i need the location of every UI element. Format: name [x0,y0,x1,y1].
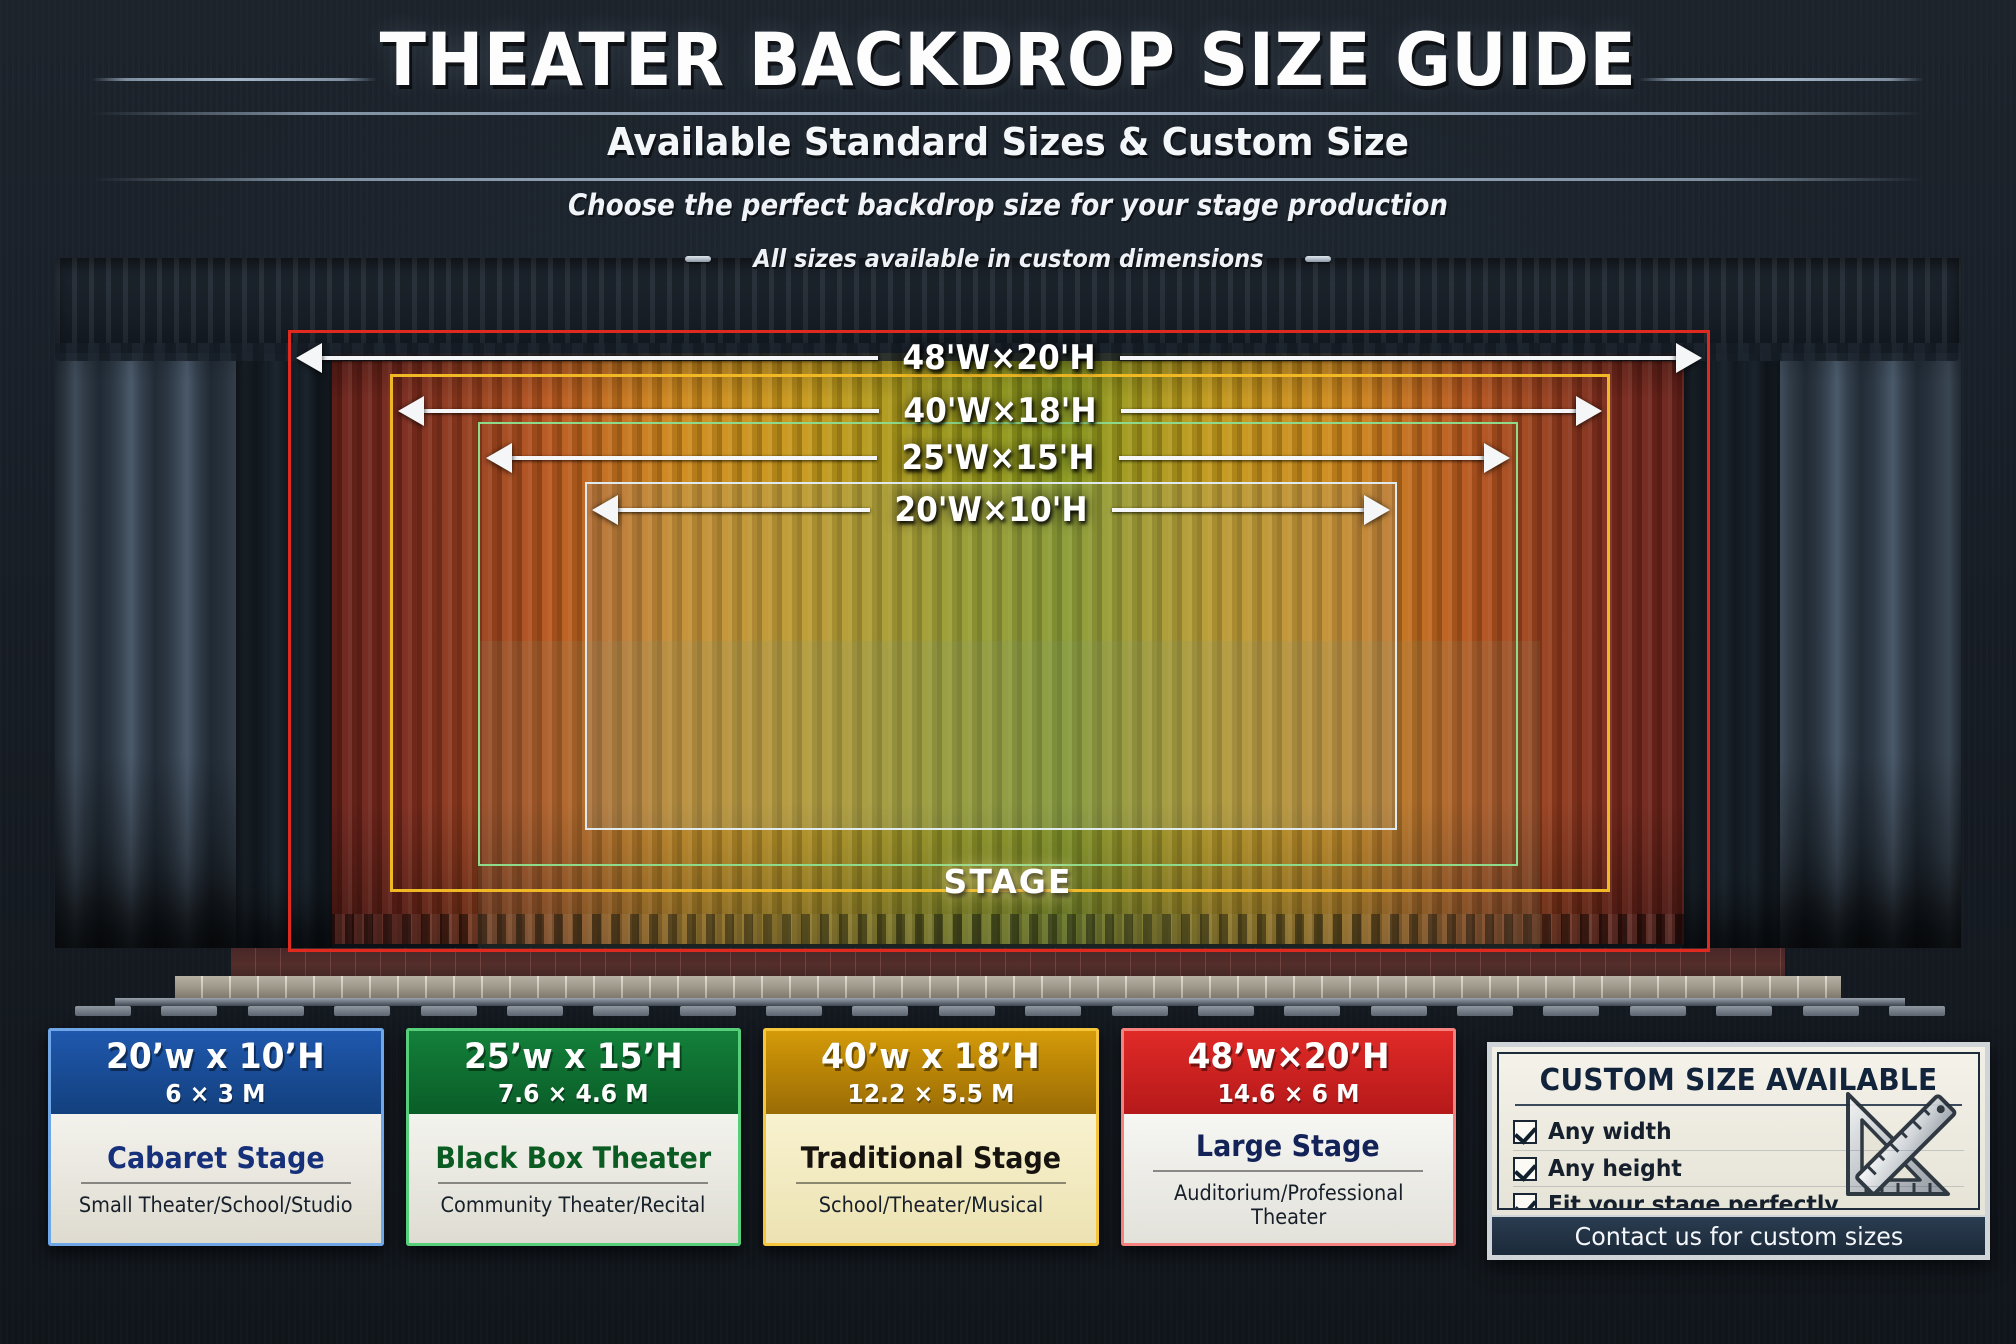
card-title: Black Box Theater [435,1141,711,1175]
custom-dimensions-note: All sizes available in custom dimensions [0,244,2016,273]
card-divider [438,1182,708,1184]
footlight-segment [1716,1006,1772,1016]
dimension-label: 25'W×15'H [887,438,1110,478]
dimension-label: 40'W×18'H [889,391,1112,431]
custom-feature-any-height[interactable]: Any height [1513,1150,1964,1186]
stage-floor-planks [231,948,1785,978]
size-card-traditional[interactable]: 40’w x 18’H 12.2 × 5.5 M Traditional Sta… [763,1028,1099,1246]
arrow-right-icon [1484,443,1510,473]
dimension-line [1112,508,1364,512]
card-size-imperial: 20’w x 10’H [106,1037,325,1077]
dash-left-icon [685,256,711,262]
card-divider [81,1182,351,1184]
card-size-imperial: 48’w×20’H [1187,1037,1389,1077]
arrow-right-icon [1576,396,1602,426]
dimension-row-20x10[interactable]: 20'W×10'H [592,488,1390,532]
poster-root: THEATER BACKDROP SIZE GUIDE Available St… [0,0,2016,1344]
card-description: Auditorium/Professional Theater [1144,1181,1432,1229]
footlight-segment [1457,1006,1513,1016]
size-card-large[interactable]: 48’w×20’H 14.6 × 6 M Large Stage Auditor… [1121,1028,1457,1246]
dash-right-icon [1305,256,1331,262]
header: THEATER BACKDROP SIZE GUIDE Available St… [0,0,2016,272]
dimension-line [512,456,877,460]
card-header: 25’w x 15’H 7.6 × 4.6 M [406,1028,742,1114]
custom-feature-label: Any height [1548,1156,1682,1182]
custom-panel-inner: CUSTOM SIZE AVAILABLE Any width Any heig… [1497,1052,1980,1210]
card-size-metric: 7.6 × 4.6 M [498,1079,649,1108]
header-rule-wide-top [92,112,1924,115]
checkbox-checked-icon[interactable] [1513,1193,1537,1211]
custom-panel-footer[interactable]: Contact us for custom sizes [1492,1215,1985,1255]
card-body: Large Stage Auditorium/Professional Thea… [1121,1114,1457,1246]
custom-size-panel[interactable]: CUSTOM SIZE AVAILABLE Any width Any heig… [1487,1042,1990,1260]
footlight-segment [1198,1006,1254,1016]
footlight-segment [1112,1006,1168,1016]
arrow-right-icon [1364,495,1390,525]
custom-feature-any-width[interactable]: Any width [1513,1114,1964,1150]
dimension-line [618,508,870,512]
size-card-row: 20’w x 10’H 6 × 3 M Cabaret Stage Small … [48,1028,1456,1246]
footlight-segment [248,1006,304,1016]
footlight-segment [593,1006,649,1016]
card-size-imperial: 40’w x 18’H [821,1037,1040,1077]
card-title: Traditional Stage [801,1141,1061,1175]
card-size-imperial: 25’w x 15’H [464,1037,683,1077]
card-size-metric: 12.2 × 5.5 M [847,1079,1014,1108]
arrow-right-icon [1676,343,1702,373]
dimension-row-25x15[interactable]: 25'W×15'H [486,436,1510,480]
footlight-segment [680,1006,736,1016]
footlight-segment [1803,1006,1859,1016]
card-description: Small Theater/School/Studio [79,1193,353,1217]
card-body: Cabaret Stage Small Theater/School/Studi… [48,1114,384,1246]
note-text: All sizes available in custom dimensions [753,244,1263,273]
size-card-cabaret[interactable]: 20’w x 10’H 6 × 3 M Cabaret Stage Small … [48,1028,384,1246]
arrow-left-icon [486,443,512,473]
footlight-segment [766,1006,822,1016]
footlight-segment [1025,1006,1081,1016]
footlight-segment [1543,1006,1599,1016]
footlight-segment [852,1006,908,1016]
custom-footer-label: Contact us for custom sizes [1574,1222,1903,1251]
card-size-metric: 14.6 × 6 M [1217,1079,1359,1108]
card-divider [796,1182,1066,1184]
page-title: THEATER BACKDROP SIZE GUIDE [71,18,1946,103]
page-subtitle: Available Standard Sizes & Custom Size [60,120,1955,164]
dimension-row-48x20[interactable]: 48'W×20'H [296,336,1702,380]
custom-feature-fit-stage[interactable]: Fit your stage perfectly [1513,1186,1964,1210]
dimension-line [1120,356,1676,360]
page-tagline: Choose the perfect backdrop size for you… [101,188,1915,222]
card-body: Black Box Theater Community Theater/Reci… [406,1114,742,1246]
arrow-left-icon [296,343,322,373]
footlight-segment [161,1006,217,1016]
stage-apron [175,976,1841,1000]
arrow-left-icon [592,495,618,525]
card-body: Traditional Stage School/Theater/Musical [763,1114,1099,1246]
dimension-label: 48'W×20'H [888,338,1111,378]
card-size-metric: 6 × 3 M [166,1079,266,1108]
card-description: Community Theater/Recital [441,1193,706,1217]
footlight-segment [1284,1006,1340,1016]
footlight-segment [334,1006,390,1016]
footlight-segment [1371,1006,1427,1016]
header-rule-wide-bottom [92,178,1924,181]
dimension-line [1119,456,1484,460]
footlight-segment [939,1006,995,1016]
dimension-row-40x18[interactable]: 40'W×18'H [398,389,1602,433]
card-description: School/Theater/Musical [818,1193,1043,1217]
side-curtain-right [1761,258,1961,948]
dimension-line [1121,409,1576,413]
card-title: Cabaret Stage [107,1141,324,1175]
custom-feature-label: Fit your stage perfectly [1548,1192,1839,1211]
dimension-line [322,356,878,360]
footlight-segment [75,1006,131,1016]
card-title: Large Stage [1196,1129,1380,1163]
card-header: 20’w x 10’H 6 × 3 M [48,1028,384,1114]
footlight-segment [1889,1006,1945,1016]
stage-floor [55,948,1961,1000]
dimension-label: 20'W×10'H [880,490,1103,530]
footlight-segment [507,1006,563,1016]
footlight-segment [1630,1006,1686,1016]
stage-label: STAGE [0,862,2016,901]
footlight-row [75,1003,1945,1019]
arrow-left-icon [398,396,424,426]
side-curtain-left [55,258,255,948]
footlight-segment [421,1006,477,1016]
custom-feature-label: Any width [1548,1119,1672,1145]
size-card-black-box[interactable]: 25’w x 15’H 7.6 × 4.6 M Black Box Theate… [406,1028,742,1246]
size-rect-20x10[interactable] [585,482,1397,830]
card-header: 48’w×20’H 14.6 × 6 M [1121,1028,1457,1114]
card-header: 40’w x 18’H 12.2 × 5.5 M [763,1028,1099,1114]
checkbox-checked-icon[interactable] [1513,1120,1537,1144]
dimension-line [424,409,879,413]
checkbox-checked-icon[interactable] [1513,1157,1537,1181]
card-divider [1153,1170,1423,1172]
